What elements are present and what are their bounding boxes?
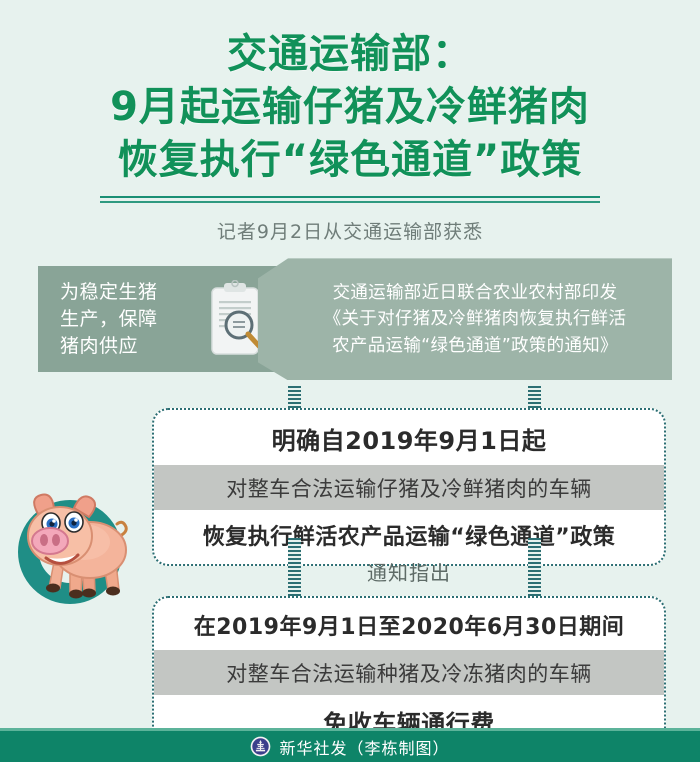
footer-text: 新华社发（李栋制图） bbox=[279, 735, 449, 759]
summary-banner: 为稳定生猪 生产，保障 猪肉供应 bbox=[0, 266, 700, 372]
card-1-row-1: 明确自2019年9月1日起 bbox=[154, 410, 664, 465]
cartoon-pig-icon bbox=[8, 478, 140, 610]
banner-left-text: 为稳定生猪 生产，保障 猪肉供应 bbox=[60, 279, 158, 360]
divider-rule-top bbox=[100, 196, 600, 198]
page-title-line-1: 交通运输部： bbox=[0, 28, 700, 81]
connector-stripe-left-top bbox=[288, 386, 301, 410]
card-2-row-1: 在2019年9月1日至2020年6月30日期间 bbox=[154, 598, 664, 650]
pig-illustration bbox=[8, 478, 140, 610]
infographic-poster: 交通运输部： 9月起运输仔猪及冷鲜猪肉 恢复执行“绿色通道”政策 记者9月2日从… bbox=[0, 0, 700, 762]
card-2-row-2: 对整车合法运输种猪及冷冻猪肉的车辆 bbox=[154, 650, 664, 695]
header: 交通运输部： 9月起运输仔猪及冷鲜猪肉 恢复执行“绿色通道”政策 记者9月2日从… bbox=[0, 0, 700, 244]
xinhua-emblem-icon bbox=[250, 736, 271, 757]
policy-card-1: 明确自2019年9月1日起 对整车合法运输仔猪及冷鲜猪肉的车辆 恢复执行鲜活农产… bbox=[152, 408, 666, 566]
card-1-row-3: 恢复执行鲜活农产品运输“绿色通道”政策 bbox=[154, 510, 664, 564]
footer-bar: 新华社发（李栋制图） bbox=[0, 728, 700, 762]
page-title-line-2: 9月起运输仔猪及冷鲜猪肉 bbox=[0, 81, 700, 134]
banner-right-panel: 交通运输部近日联合农业农村部印发 《关于对仔猪及冷鲜猪肉恢复执行鲜活 农产品运输… bbox=[258, 258, 672, 380]
card-1-row-2: 对整车合法运输仔猪及冷鲜猪肉的车辆 bbox=[154, 465, 664, 510]
divider-rule-bottom bbox=[100, 201, 600, 203]
connector-stripe-right-top bbox=[528, 386, 541, 410]
banner-left-panel: 为稳定生猪 生产，保障 猪肉供应 bbox=[38, 266, 288, 372]
banner-right-text: 交通运输部近日联合农业农村部印发 《关于对仔猪及冷鲜猪肉恢复执行鲜活 农产品运输… bbox=[324, 280, 627, 359]
page-title-line-3: 恢复执行“绿色通道”政策 bbox=[0, 134, 700, 187]
subtitle: 记者9月2日从交通运输部获悉 bbox=[0, 217, 700, 244]
mid-label: 通知指出 bbox=[152, 557, 666, 586]
title-divider bbox=[100, 196, 600, 203]
